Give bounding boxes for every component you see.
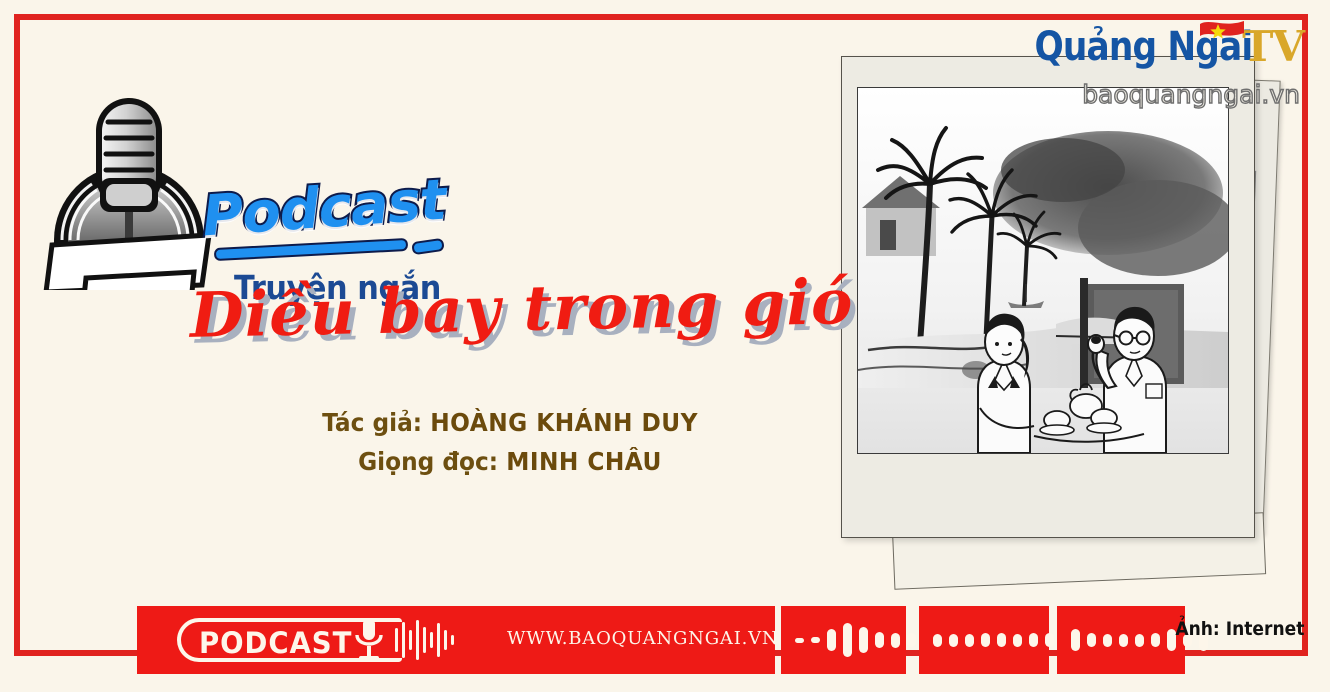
podcast-wordmark: Podcast [200,168,448,250]
brand-logo-row: Quảng Ngãi TV [1004,22,1304,78]
poster-canvas: Podcast Truyện ngắn Diều bay trong gió T… [0,0,1330,692]
waveform-bar [1135,634,1144,647]
story-title: Diều bay trong gió [189,265,851,369]
photo-credit: Ảnh: Internet [1175,618,1304,640]
photo-image-frame [857,87,1229,454]
waveform-bar [1103,634,1112,647]
bottom-bar-segment-wave-3 [1057,606,1185,674]
brand-logo: Quảng Ngãi TV baoquangngai.vn [1004,22,1304,122]
waveform-bar [875,632,884,648]
waveform-bar [795,638,804,643]
waveform-bar [811,637,820,643]
waveform-bar [1071,629,1080,651]
waveform-group-3 [1057,606,1222,674]
waveform-bar [981,633,990,647]
reader-line: Giọng đọc: MINH CHÂU [315,447,706,476]
waveform-bar [907,633,916,647]
bottom-bar-segment-wave-2 [919,606,1049,674]
waveform-bar [1045,633,1054,647]
bottom-bar-segment-main: PODCAST WWW.B [137,606,775,674]
podcast-logo: Podcast Truyện ngắn [34,80,434,300]
brand-website: baoquangngai.vn [1082,80,1300,109]
bottom-bar-segment-wave-1 [781,606,906,674]
author-line: Tác giả: HOÀNG KHÁNH DUY [315,408,706,437]
waveform-bar [933,634,942,647]
photo-card-front [841,56,1255,538]
bottom-bar-url: WWW.BAOQUANGNGAI.VN [507,628,778,649]
waveform-bar [1151,633,1160,647]
waveform-bar [859,627,868,653]
reader-label: Giọng đọc: [358,447,498,476]
waveform-bar [1119,634,1128,647]
waveform-bar [843,623,852,657]
story-illustration [858,88,1228,453]
waveform-bar [965,634,974,647]
bottom-bar: PODCAST WWW.B [0,606,1330,678]
microphone-icon [352,616,386,664]
reader-name: MINH CHÂU [506,447,662,476]
waveform-bar [949,634,958,647]
credits-block: Tác giả: HOÀNG KHÁNH DUY Giọng đọc: MINH… [300,408,720,486]
brand-suffix: TV [1242,22,1304,71]
waveform-bar [997,633,1006,647]
retro-microphone-icon [34,80,224,290]
author-label: Tác giả: [322,408,422,437]
podcast-underline-dash [411,238,444,255]
waveform-bar [1087,633,1096,647]
vietnam-flag-icon [1198,18,1246,44]
waveform-bar [827,629,836,651]
author-name: HOÀNG KHÁNH DUY [430,408,698,437]
bottom-podcast-label: PODCAST [199,626,352,660]
waveform-bar [1013,634,1022,647]
waveform-bar [891,633,900,648]
waveform-bar [1029,633,1038,647]
audio-waveform-icon [395,618,455,662]
